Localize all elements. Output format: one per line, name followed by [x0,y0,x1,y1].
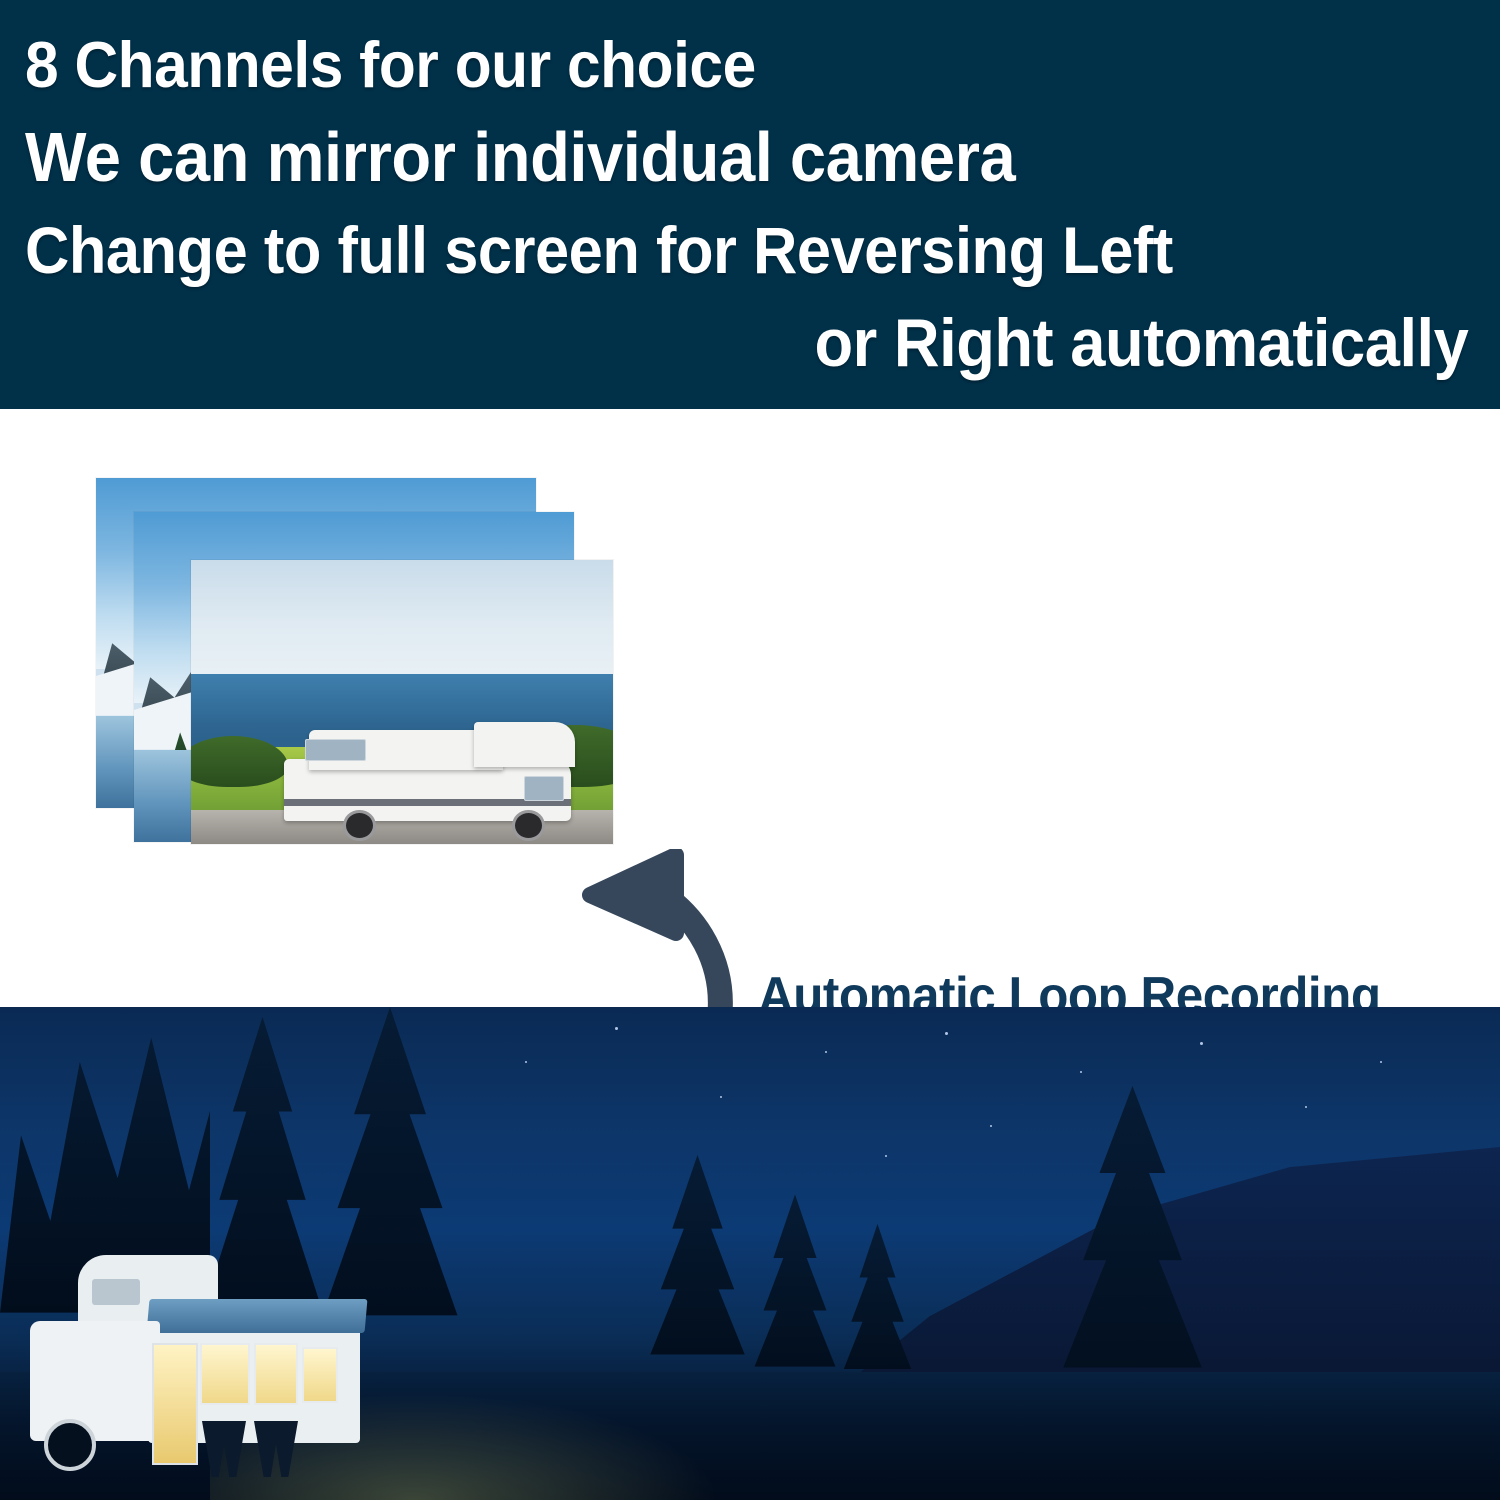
star [720,1096,722,1098]
motorhome-windshield [524,776,564,801]
photo-card-front [191,560,613,844]
star [615,1027,618,1030]
motorhome-wheel [44,1419,96,1471]
motorhome-open-door [152,1343,198,1465]
star [1305,1106,1307,1108]
motorhome-night [30,1243,360,1443]
header-line-2: We can mirror individual camera [25,111,1397,204]
header-line-4: or Right automatically [105,297,1500,390]
motorhome-overcab-window [92,1279,140,1305]
loop-recording-section: Automatic Loop Recording The system come… [0,409,1500,1007]
motorhome-window-lit-2 [254,1343,298,1405]
motorhome-window-1 [305,739,366,761]
motorhome-window-lit-1 [200,1343,250,1405]
motorhome-window-lit-3 [302,1347,338,1403]
motorhome-cab [30,1321,160,1441]
header-line-1: 8 Channels for our choice [25,18,1397,111]
star [945,1032,948,1035]
night-vision-photo: HD Night Vsion [0,1007,1500,1500]
sky [191,560,613,674]
header-line-3: Change to full screen for Reversing Left [25,204,1397,297]
star [885,1155,887,1157]
motorhome-awning [147,1299,368,1333]
header-banner: 8 Channels for our choice We can mirror … [0,0,1500,409]
star [1200,1042,1203,1045]
motorhome-roof-pod [474,722,575,767]
